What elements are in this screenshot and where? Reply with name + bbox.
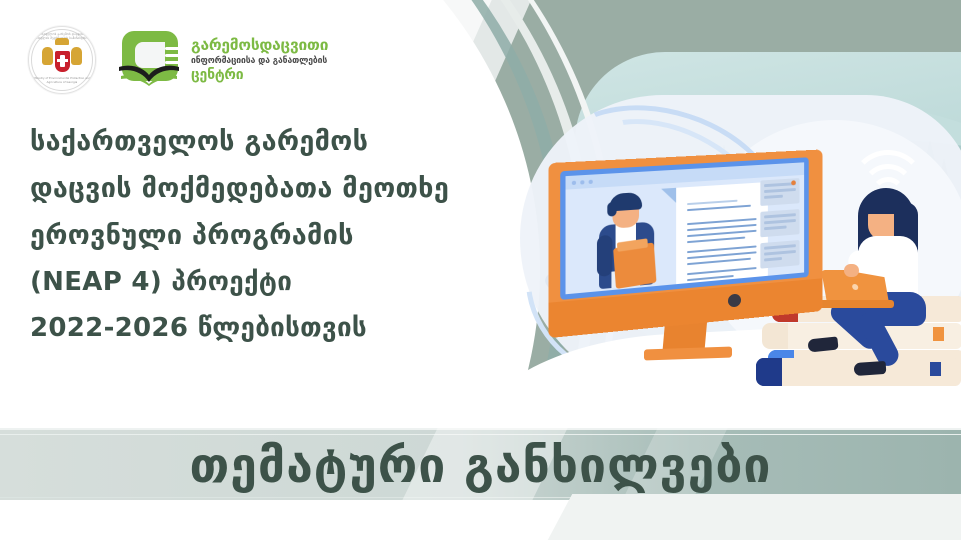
monitor-stand-base [644,346,732,360]
crown-icon [55,38,69,45]
online-webinar-illustration [520,100,961,430]
slide-title: საქართველოს გარემოს დაცვის მოქმედებათა მ… [30,128,470,361]
presentation-slide: საქართველოს გარემოს დაცვისა და სოფლის მე… [0,0,961,540]
desktop-monitor [552,156,830,366]
title-line-3: ეროვნული პროგრამის [30,222,470,249]
panel-card [760,209,799,237]
eiec-line-1: გარემოსდაცვითი [191,38,328,54]
logo-row: საქართველოს გარემოს დაცვისა და სოფლის მე… [28,26,328,94]
folder-icon [613,242,656,289]
open-book-square-logo-icon [122,31,182,89]
hand [844,264,859,277]
bottom-strip [0,500,961,540]
title-line-4: (NEAP 4) პროექტი [30,269,470,295]
lion-left-icon [42,47,53,65]
eiec-logo-text: გარემოსდაცვითი ინფორმაციისა და განათლები… [191,38,328,81]
shoe-back [854,361,887,376]
eiec-line-3: ცენტრი [191,68,328,82]
shield-icon [55,51,70,72]
bottom-banner: თემატური განხილვები [0,428,961,504]
video-call-presenter [595,191,662,290]
panel-card [760,240,799,269]
side-panel-cards [760,178,799,274]
page-fold-corner [661,188,676,204]
title-line-5: 2022-2026 წლებისთვის [30,315,470,341]
banner-title: თემატური განხილვები [190,442,772,490]
eiec-logo: გარემოსდაცვითი ინფორმაციისა და განათლები… [122,31,328,89]
woman-with-laptop [820,188,950,388]
document-page [676,182,768,292]
seal-caption: Ministry of Environmental Protection and… [29,77,95,85]
title-line-1: საქართველოს გარემოს [30,128,470,155]
eiec-line-2: ინფორმაციისა და განათლების [191,57,328,66]
lion-right-icon [71,47,82,65]
monitor-screen [560,157,809,300]
georgia-ministry-seal-logo: საქართველოს გარემოს დაცვისა და სოფლის მე… [28,26,96,94]
title-line-2: დაცვის მოქმედებათა მეოთხე [30,175,470,202]
